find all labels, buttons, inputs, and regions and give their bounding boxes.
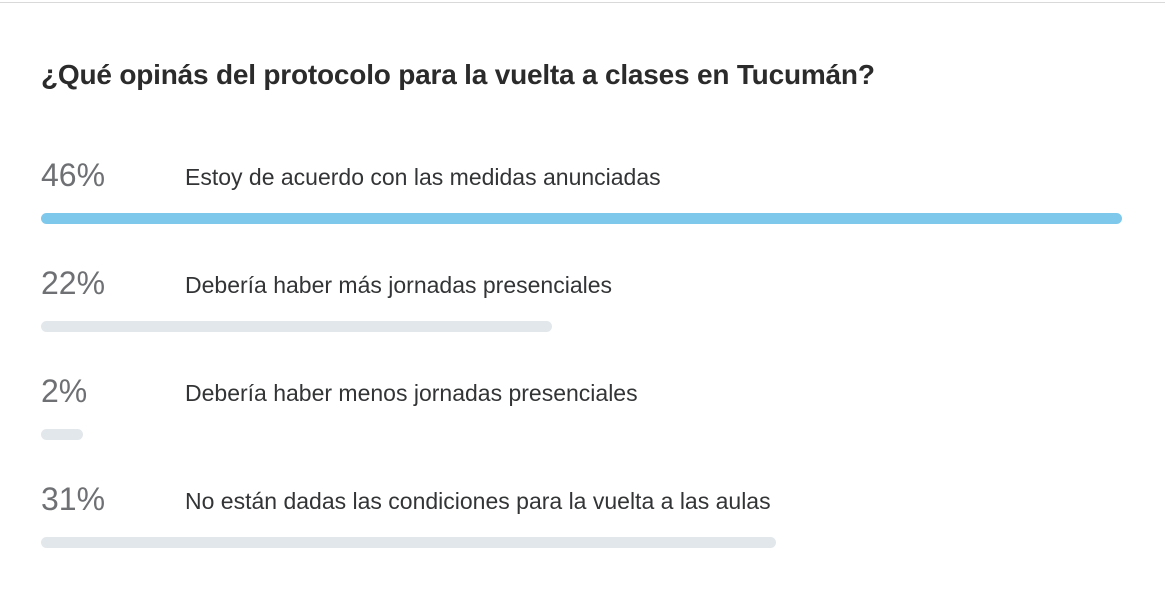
page-title: ¿Qué opinás del protocolo para la vuelta… <box>41 57 875 93</box>
poll-option-row[interactable]: 2% Debería haber menos jornadas presenci… <box>0 366 1165 474</box>
poll-option-percent: 22% <box>41 263 105 303</box>
poll-bar-fill <box>41 537 776 548</box>
poll-option-label: Debería haber más jornadas presenciales <box>185 269 612 301</box>
poll-option-header: 2% Debería haber menos jornadas presenci… <box>0 366 1165 416</box>
poll-bar-track <box>41 213 1122 224</box>
poll-option-row[interactable]: 22% Debería haber más jornadas presencia… <box>0 258 1165 366</box>
poll-bar-fill <box>41 213 1122 224</box>
poll-bar-fill <box>41 429 83 440</box>
poll-option-label: No están dadas las condiciones para la v… <box>185 485 771 517</box>
poll-option-label: Estoy de acuerdo con las medidas anuncia… <box>185 161 661 193</box>
poll-bar-track <box>41 321 552 332</box>
poll-option-header: 31% No están dadas las condiciones para … <box>0 474 1165 524</box>
poll-option-percent: 46% <box>41 155 105 195</box>
poll-bar-fill <box>41 321 552 332</box>
poll-option-header: 22% Debería haber más jornadas presencia… <box>0 258 1165 308</box>
poll-results-list: 46% Estoy de acuerdo con las medidas anu… <box>0 150 1165 582</box>
poll-bar-track <box>41 429 83 440</box>
poll-option-row[interactable]: 46% Estoy de acuerdo con las medidas anu… <box>0 150 1165 258</box>
poll-option-percent: 31% <box>41 479 105 519</box>
poll-option-row[interactable]: 31% No están dadas las condiciones para … <box>0 474 1165 582</box>
poll-option-header: 46% Estoy de acuerdo con las medidas anu… <box>0 150 1165 200</box>
poll-option-percent: 2% <box>41 371 87 411</box>
poll-option-label: Debería haber menos jornadas presenciale… <box>185 377 638 409</box>
poll-bar-track <box>41 537 776 548</box>
top-divider <box>0 2 1165 3</box>
poll-widget: ¿Qué opinás del protocolo para la vuelta… <box>0 0 1165 599</box>
